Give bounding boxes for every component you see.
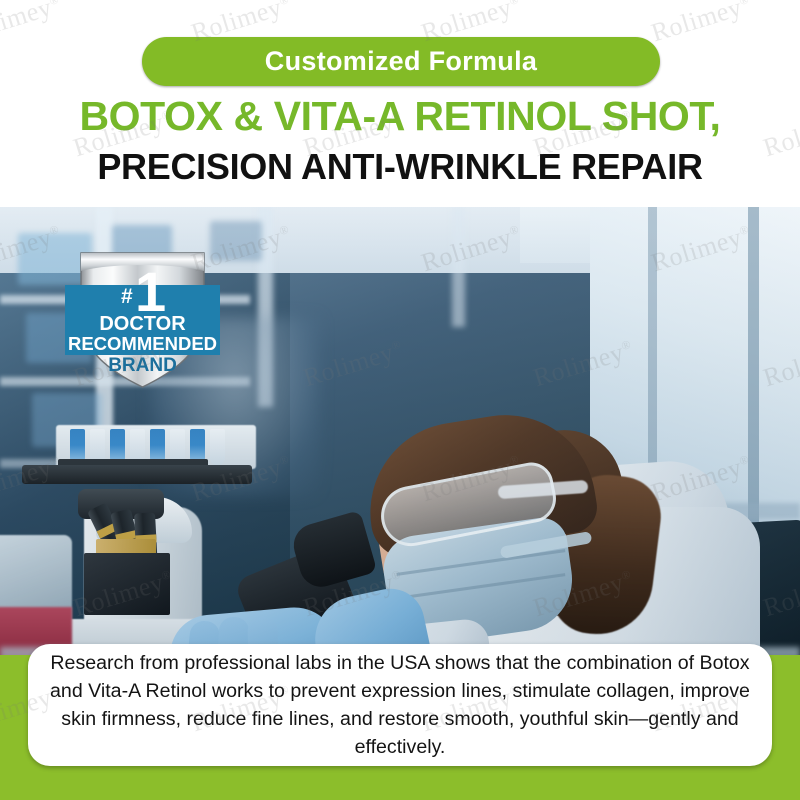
photo-microscope-slide <box>84 553 170 615</box>
badge-line-brand: BRAND <box>108 355 177 376</box>
product-banner: Customized Formula BOTOX & VITA-A RETINO… <box>0 0 800 800</box>
badge-rank-hash: # <box>121 285 133 308</box>
photo-pipette-tip <box>210 429 225 465</box>
header-section: Customized Formula BOTOX & VITA-A RETINO… <box>0 0 800 207</box>
shield-icon: # 1 DOCTOR RECOMMENDED BRAND <box>55 237 230 392</box>
pill-label: Customized Formula <box>265 46 537 77</box>
photo-shelf-post-c <box>452 207 465 327</box>
page-title: BOTOX & VITA-A RETINOL SHOT, <box>0 93 800 140</box>
doctor-recommended-badge: # 1 DOCTOR RECOMMENDED BRAND <box>55 237 230 392</box>
badge-line-doctor: DOCTOR <box>99 313 186 335</box>
customized-formula-pill: Customized Formula <box>142 37 660 86</box>
badge-line-recommended: RECOMMENDED <box>68 333 217 354</box>
photo-window-mullion-right <box>748 207 759 527</box>
description-card: Research from professional labs in the U… <box>28 644 772 766</box>
photo-microscope-stage <box>22 465 252 484</box>
page-subtitle: PRECISION ANTI-WRINKLE REPAIR <box>0 146 800 188</box>
description-text: Research from professional labs in the U… <box>28 649 772 761</box>
